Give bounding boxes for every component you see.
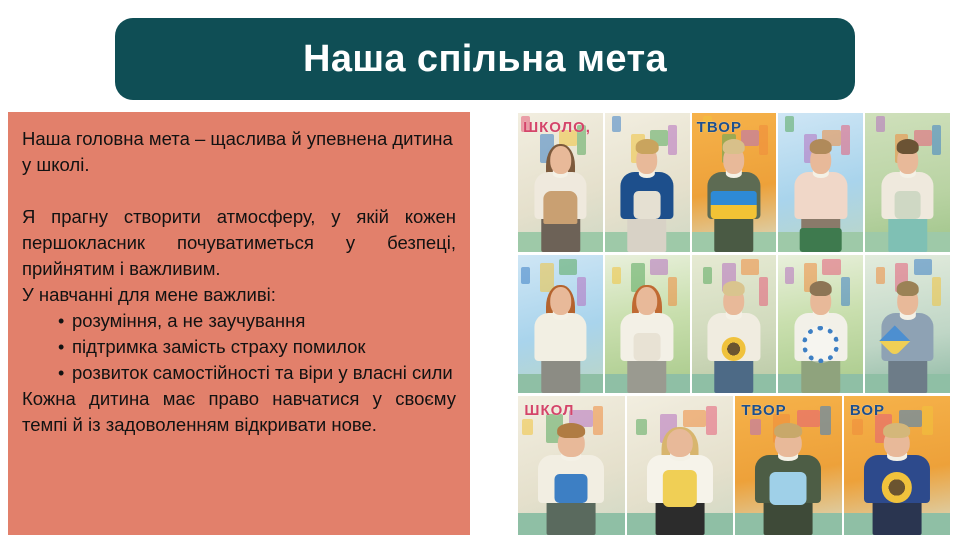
wall-poster [822, 259, 841, 276]
wall-poster [650, 259, 669, 276]
photo-girl-with-trident-craft [627, 396, 734, 535]
photo-collage: ШКОЛО,ТВОРШКОЛТВОРВОР [518, 113, 950, 535]
child-figure [755, 427, 821, 535]
child-figure [534, 144, 587, 252]
photo-boy-with-sunflower [692, 255, 777, 394]
paragraph-list-intro: У навчанні для мене важливі: [22, 282, 456, 308]
child-figure [795, 144, 848, 252]
wall-poster [914, 259, 933, 276]
wall-poster [759, 277, 767, 306]
held-paper-craft [547, 333, 573, 361]
child-legs [888, 215, 927, 252]
wall-poster [797, 410, 820, 427]
child-hair [897, 281, 919, 296]
slide-title-banner: Наша спільна мета [115, 18, 855, 100]
wall-poster [876, 267, 884, 284]
wall-lettering: ТВОР [697, 120, 742, 135]
child-figure [708, 144, 761, 252]
photo-boy-by-tree-mural [865, 113, 950, 252]
priorities-bullet-list: розуміння, а не заучування підтримка зам… [22, 308, 456, 386]
wall-poster [559, 259, 578, 276]
photo-boy-in-blue-with-craft [605, 113, 690, 252]
wall-lettering: ШКОЛО, [523, 120, 591, 135]
child-figure [621, 144, 674, 252]
paragraph-closing: Кожна дитина має право навчатися у своєм… [22, 386, 456, 438]
child-head [550, 287, 571, 315]
wall-poster [522, 419, 533, 436]
text-content-panel: Наша головна мета – щаслива й упевнена д… [8, 112, 470, 535]
paragraph-spacer [22, 178, 456, 204]
photo-girl-in-white-blouse [605, 255, 690, 394]
held-trident-craft [663, 470, 697, 507]
photo-boy-with-glasses-and-wreath [778, 255, 863, 394]
wall-poster [820, 406, 831, 435]
photo-boy-with-ukrainian-flag: ТВОР [692, 113, 777, 252]
wall-lettering: ТВОР [741, 403, 786, 418]
child-figure [708, 285, 761, 393]
photo-boy-with-sunflower-craft: ВОР [844, 396, 951, 535]
photo-boy-with-ua-heart [865, 255, 950, 394]
list-item: підтримка замість страху помилок [58, 334, 456, 360]
child-figure [647, 427, 713, 535]
child-figure [795, 285, 848, 393]
held-paper-craft [634, 333, 660, 361]
list-item: розуміння, а не заучування [58, 308, 456, 334]
photo-boy-with-embroidered-shirt-craft: ТВОР [735, 396, 842, 535]
paragraph-atmosphere: Я прагну створити атмосферу, у якій коже… [22, 204, 456, 282]
wall-poster [521, 267, 529, 284]
child-figure [881, 144, 934, 252]
photo-girl-kneeling-by-map [518, 255, 603, 394]
child-legs [547, 498, 596, 535]
child-hair [636, 139, 658, 154]
wall-poster [759, 125, 767, 154]
child-legs [872, 498, 921, 535]
photo-row: ШКОЛО,ТВОР [518, 113, 950, 252]
child-figure [621, 285, 674, 393]
wall-poster [612, 267, 620, 284]
wall-poster [876, 116, 884, 133]
child-legs [888, 357, 927, 394]
page-title: Наша спільна мета [303, 40, 667, 78]
child-hair [883, 423, 911, 438]
child-figure [538, 427, 604, 535]
child-legs [541, 357, 580, 394]
wall-poster [636, 419, 647, 436]
held-paper-shirt-craft [770, 472, 807, 504]
wall-poster [852, 419, 863, 436]
held-paper-craft [555, 474, 588, 502]
child-hair [810, 139, 832, 154]
wall-poster [703, 267, 711, 284]
wall-poster [785, 116, 793, 133]
child-head [637, 287, 658, 315]
child-hair [774, 423, 802, 438]
held-paper-craft [634, 191, 660, 219]
child-legs [628, 215, 667, 252]
child-head [550, 146, 571, 174]
child-legs [715, 357, 754, 394]
photo-girl-with-paper-house: ШКОЛО, [518, 113, 603, 252]
photo-row [518, 255, 950, 394]
held-paper-house-craft [543, 191, 578, 223]
paragraph-main-goal: Наша головна мета – щаслива й упевнена д… [22, 126, 456, 178]
child-torso [795, 172, 848, 220]
wall-poster [683, 410, 706, 427]
child-hair [810, 281, 832, 296]
child-hair [897, 139, 919, 154]
photo-girl-with-brain-poster [778, 113, 863, 252]
wall-lettering: ШКОЛ [524, 403, 574, 418]
wall-poster [785, 267, 793, 284]
wall-poster [612, 116, 620, 133]
held-book [800, 228, 842, 252]
photo-girl-with-blue-flowers-embroidery: ШКОЛ [518, 396, 625, 535]
child-figure [881, 285, 934, 393]
child-hair [723, 281, 745, 296]
wall-poster [741, 259, 760, 276]
child-figure [534, 285, 587, 393]
list-item: розвиток самостійності та віри у власні … [58, 360, 456, 386]
wall-lettering: ВОР [850, 403, 885, 418]
photo-row: ШКОЛТВОРВОР [518, 396, 950, 535]
held-paper-craft [894, 191, 920, 219]
child-legs [715, 215, 754, 252]
child-legs [628, 357, 667, 394]
held-ukrainian-flag [711, 191, 757, 219]
child-hair [557, 423, 585, 438]
child-figure [864, 427, 930, 535]
child-hair [723, 139, 745, 154]
child-head [667, 429, 693, 457]
